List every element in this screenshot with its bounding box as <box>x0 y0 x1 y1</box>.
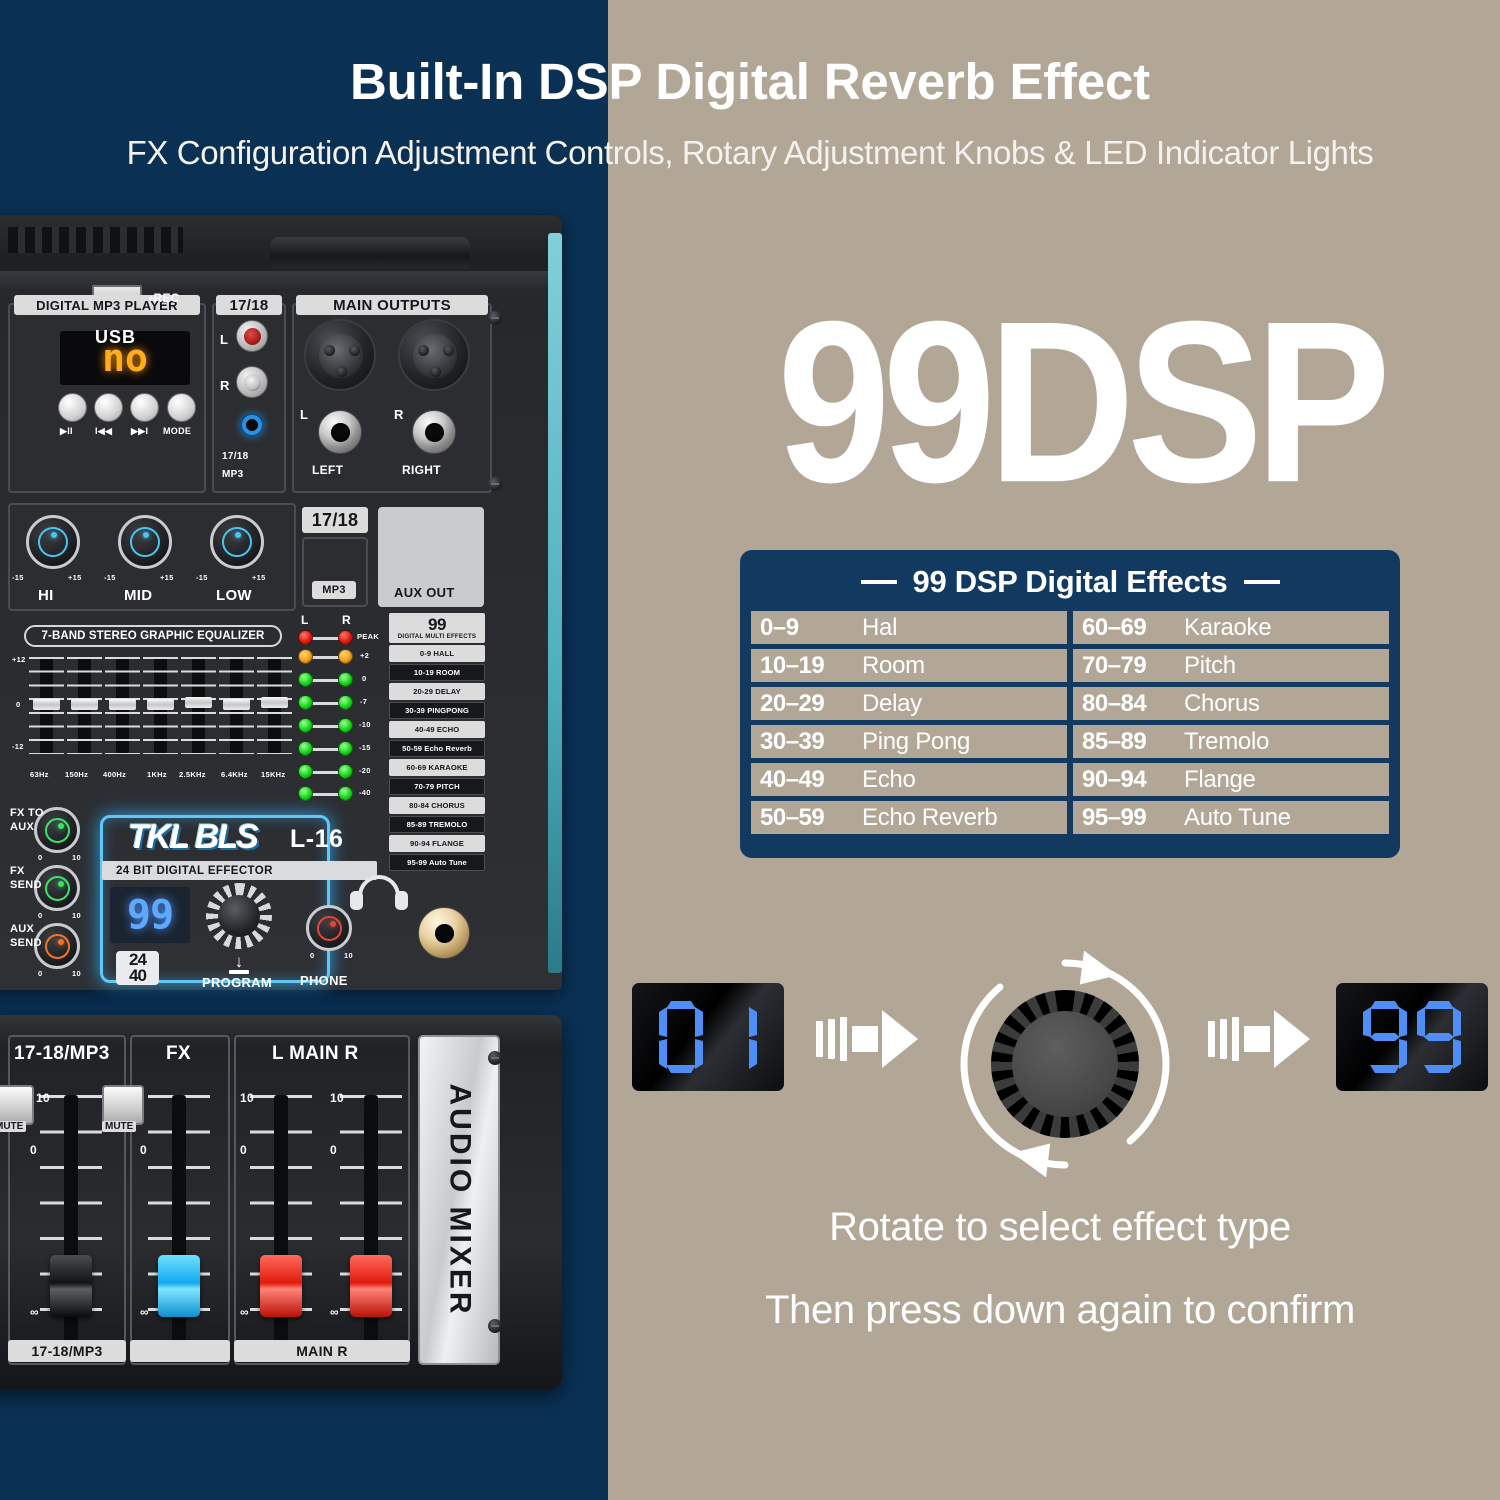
mute-button-ch16[interactable] <box>0 1085 34 1125</box>
effect-range: 20–29 <box>760 690 852 718</box>
meter-led-left <box>298 786 313 801</box>
meter-scale-label: PEAK <box>357 632 379 641</box>
header: Built-In DSP Digital Reverb Effect FX Co… <box>0 0 1500 205</box>
rca-section-label: 17/18 <box>216 295 282 315</box>
fader-scale-10: 10 <box>240 1091 254 1105</box>
meter-scale-label: -10 <box>359 720 371 729</box>
low-knob-label: LOW <box>216 587 252 604</box>
hi-knob[interactable] <box>26 515 80 569</box>
fader-scale-0: 0 <box>330 1143 337 1157</box>
fader-scale-10: 10 <box>330 1091 344 1105</box>
program-label: PROGRAM <box>202 975 272 990</box>
effect-name: Echo <box>862 766 916 794</box>
meter-led-left <box>298 764 313 779</box>
fx-to-aux-label-2: AUX <box>10 821 34 833</box>
screw-icon <box>488 1051 502 1065</box>
effect-row: 70–79 Pitch <box>1073 649 1389 682</box>
eq-scale-zero: 0 <box>16 700 20 709</box>
effect-row: 0–9 Hal <box>751 611 1067 644</box>
dsp-legend-row: 85-89 TREMOLO <box>389 816 485 833</box>
effect-range: 10–19 <box>760 652 852 680</box>
dsp-legend-row: 95-99 Auto Tune <box>389 854 485 871</box>
effect-row: 90–94 Flange <box>1073 763 1389 796</box>
effects-table-card: 99 DSP Digital Effects 0–9 Hal 60–69 Kar… <box>740 550 1400 858</box>
effect-range: 80–84 <box>1082 690 1174 718</box>
meter-led-left <box>298 718 313 733</box>
trs-right-jack[interactable] <box>412 410 456 454</box>
phone-jack[interactable] <box>418 907 470 959</box>
meter-led-left <box>298 672 313 687</box>
dsp-legend-row: 30-39 PINGPONG <box>389 702 485 719</box>
meter-led-right <box>338 695 353 710</box>
fx-to-aux-max: 10 <box>72 853 81 862</box>
eq-band-slider[interactable] <box>40 657 53 754</box>
fader-scale-inf: ∞ <box>140 1305 149 1319</box>
phone-label: PHONE <box>300 973 348 988</box>
next-button[interactable] <box>130 393 159 422</box>
effect-name: Pitch <box>1184 652 1236 680</box>
eq-band-label: 400Hz <box>103 770 126 779</box>
dsp-legend-row: 10-19 ROOM <box>389 664 485 681</box>
audio-mixer-text: AUDIO MIXER <box>442 1083 476 1316</box>
hi-knob-label: HI <box>38 587 54 604</box>
effect-range: 50–59 <box>760 804 852 832</box>
eq-band-label: 1KHz <box>147 770 167 779</box>
rca-left-jack[interactable] <box>236 320 268 352</box>
fader-label-mp3: 17-18/MP3 <box>14 1043 110 1065</box>
flow-caption-line1: Rotate to select effect type <box>620 1205 1500 1250</box>
aux-out-label: AUX OUT <box>394 585 455 600</box>
fader-scale-inf: ∞ <box>30 1305 39 1319</box>
eq-band-label: 15KHz <box>261 770 285 779</box>
effect-name: Delay <box>862 690 922 718</box>
fader-bottom-label-main: MAIN R <box>234 1340 410 1362</box>
effect-row: 85–89 Tremolo <box>1073 725 1389 758</box>
eq-band-slider[interactable] <box>154 657 167 754</box>
meter-led-left <box>298 695 313 710</box>
audio-mixer-plate: AUDIO MIXER <box>418 1035 500 1365</box>
main-right-tag: R <box>394 407 404 422</box>
effect-range: 30–39 <box>760 728 852 756</box>
seven-segment-digit <box>1363 1001 1407 1073</box>
dsp-legend-row: 60-69 KARAOKE <box>389 759 485 776</box>
mute-label: MUTE <box>102 1121 136 1132</box>
knob-face <box>1012 1011 1118 1117</box>
page-title: Built-In DSP Digital Reverb Effect <box>0 52 1500 111</box>
bitrate-badge-bottom: 40 <box>129 966 146 985</box>
effect-name: Chorus <box>1184 690 1260 718</box>
effect-row: 80–84 Chorus <box>1073 687 1389 720</box>
dsp-legend: 99 DIGITAL MULTI EFFECTS 0-9 HALL 10-19 … <box>389 613 485 871</box>
effect-row: 95–99 Auto Tune <box>1073 801 1389 834</box>
eq-band-label: 63Hz <box>30 770 49 779</box>
mixer-teal-edge <box>548 233 562 973</box>
mode-label: MODE <box>163 426 191 436</box>
dsp-legend-row: 80-84 CHORUS <box>389 797 485 814</box>
fx-to-aux-min: 0 <box>38 853 42 862</box>
fader-scale-10: 10 <box>36 1091 50 1105</box>
hi-min-label: -15 <box>12 573 24 582</box>
phone-knob[interactable] <box>306 905 352 951</box>
aux-send-max: 10 <box>72 969 81 978</box>
low-min-label: -15 <box>196 573 208 582</box>
fader-cap <box>350 1255 392 1317</box>
eq-band-slider[interactable] <box>230 657 243 754</box>
fader-scale-0: 0 <box>30 1143 37 1157</box>
fx-send-label-2: SEND <box>10 879 42 891</box>
meter-led-left <box>298 649 313 664</box>
rca-left-label: L <box>220 332 228 347</box>
usb-label: USB <box>95 327 136 348</box>
fader-fx[interactable] <box>172 1095 186 1341</box>
flow-caption-line2: Then press down again to confirm <box>620 1288 1500 1333</box>
meter-right-label: R <box>342 613 351 627</box>
effect-range: 95–99 <box>1082 804 1174 832</box>
press-down-arrow-icon: ↓ <box>228 955 250 977</box>
mid-min-label: -15 <box>104 573 116 582</box>
dsp-wordmark: 99DSP <box>692 288 1467 518</box>
dsp-badge-sub: DIGITAL MULTI EFFECTS <box>398 633 476 640</box>
effect-range: 90–94 <box>1082 766 1174 794</box>
title-dash-left-icon <box>861 580 897 584</box>
meter-led-left <box>298 630 313 645</box>
effect-row: 40–49 Echo <box>751 763 1067 796</box>
meter-led-right <box>338 649 353 664</box>
dsp-badge-number: 99 <box>428 617 446 633</box>
mixer-brand-bar <box>0 271 560 289</box>
mute-label: MUTE <box>0 1121 26 1132</box>
effect-name: Auto Tune <box>1184 804 1291 832</box>
fader-scale-0: 0 <box>240 1143 247 1157</box>
effect-name: Tremolo <box>1184 728 1269 756</box>
dsp-legend-row: 70-79 PITCH <box>389 778 485 795</box>
mixer-photo: DIGITAL MP3 PLAYER USB •REC no ▶II I◀◀ ▶… <box>0 215 600 1390</box>
effect-range: 85–89 <box>1082 728 1174 756</box>
effect-row: 10–19 Room <box>751 649 1067 682</box>
eq-band-label: 150Hz <box>65 770 88 779</box>
eq-band-label: 2.5KHz <box>179 770 206 779</box>
rca-right-label: R <box>220 378 230 393</box>
fader-label-fx: FX <box>166 1043 191 1065</box>
effector-display: 99 <box>110 887 190 943</box>
effect-name: Echo Reverb <box>862 804 997 832</box>
effect-range: 60–69 <box>1082 614 1174 642</box>
dsp-legend-row: 90-94 FLANGE <box>389 835 485 852</box>
hi-max-label: +15 <box>68 573 82 582</box>
meter-scale-label: -40 <box>359 788 371 797</box>
dsp-legend-row: 50-59 Echo Reverb <box>389 740 485 757</box>
effect-row: 20–29 Delay <box>751 687 1067 720</box>
flow-arrow-icon <box>1208 1010 1338 1068</box>
effect-range: 40–49 <box>760 766 852 794</box>
mute-button-mp3[interactable] <box>102 1085 144 1125</box>
bitrate-badge: 24 40 <box>116 951 159 985</box>
meter-led-right <box>338 718 353 733</box>
main-left-tag: L <box>300 407 308 422</box>
effect-range: 70–79 <box>1082 652 1174 680</box>
mode-button[interactable] <box>167 393 196 422</box>
dsp-legend-row: 20-29 DELAY <box>389 683 485 700</box>
screw-icon <box>488 1319 502 1333</box>
previous-button[interactable] <box>94 393 123 422</box>
trs-left-jack[interactable] <box>318 410 362 454</box>
meter-scale-label: 0 <box>362 674 366 683</box>
effect-row: 50–59 Echo Reverb <box>751 801 1067 834</box>
effect-name: Hal <box>862 614 897 642</box>
headphone-icon <box>350 875 408 915</box>
previous-label: I◀◀ <box>95 426 112 437</box>
effect-row: 60–69 Karaoke <box>1073 611 1389 644</box>
aux-send-min: 0 <box>38 969 42 978</box>
rotate-flow-diagram <box>620 955 1500 1165</box>
aux-send-label-2: SEND <box>10 937 42 949</box>
title-dash-right-icon <box>1244 580 1280 584</box>
play-pause-label: ▶II <box>60 426 73 437</box>
mp3-icon-label: MP3 <box>312 581 356 599</box>
dsp-legend-row: 0-9 HALL <box>389 645 485 662</box>
effect-name: Ping Pong <box>862 728 970 756</box>
effector-strip-label: 24 BIT DIGITAL EFFECTOR <box>102 861 377 880</box>
xlr-right-connector[interactable] <box>398 319 470 391</box>
mixer-handle <box>270 237 470 269</box>
dsp-legend-badge: 99 DIGITAL MULTI EFFECTS <box>389 613 485 643</box>
effect-range: 0–9 <box>760 614 852 642</box>
meter-led-right <box>338 786 353 801</box>
rca-right-jack[interactable] <box>236 366 268 398</box>
fx-send-min: 0 <box>38 911 42 920</box>
meter-led-right <box>338 764 353 779</box>
eq-band-slider[interactable] <box>116 657 129 754</box>
meter-scale-label: -15 <box>359 743 371 752</box>
display-start <box>632 983 784 1091</box>
model-number: L-16 <box>290 825 343 854</box>
seven-segment-digit <box>713 1001 757 1073</box>
effect-name: Karaoke <box>1184 614 1271 642</box>
source-led-icon <box>240 413 264 437</box>
display-end <box>1336 983 1488 1091</box>
meter-led-right <box>338 672 353 687</box>
xlr-left-connector[interactable] <box>304 319 376 391</box>
low-max-label: +15 <box>252 573 266 582</box>
mid-knob-label: MID <box>124 587 152 604</box>
screw-icon <box>488 477 502 491</box>
effects-table-title: 99 DSP Digital Effects <box>743 553 1397 611</box>
main-outputs-label: MAIN OUTPUTS <box>296 295 488 315</box>
meter-scale-label: +2 <box>360 651 369 660</box>
mixer-vents <box>8 227 183 253</box>
effects-table-title-text: 99 DSP Digital Effects <box>913 564 1228 600</box>
fader-cap <box>260 1255 302 1317</box>
meter-scale-label: -20 <box>359 766 371 775</box>
meter-left-label: L <box>301 613 309 627</box>
fader-label-main: L MAIN R <box>272 1043 359 1065</box>
fx-send-max: 10 <box>72 911 81 920</box>
rotary-knob-illustration[interactable] <box>950 949 1180 1179</box>
effects-grid: 0–9 Hal 60–69 Karaoke 10–19 Room 70–79 P… <box>743 611 1397 842</box>
right-jack-label: RIGHT <box>402 463 441 477</box>
source-label-2: MP3 <box>222 469 243 480</box>
fader-cap <box>50 1255 92 1317</box>
fader-scale-inf: ∞ <box>330 1305 339 1319</box>
effect-name: Room <box>862 652 925 680</box>
fader-main-right[interactable] <box>364 1095 378 1341</box>
fader-scale-inf: ∞ <box>240 1305 249 1319</box>
screw-icon <box>488 311 502 325</box>
flow-arrow-icon <box>816 1010 946 1068</box>
effector-display-value: 99 <box>127 895 173 935</box>
low-knob[interactable] <box>210 515 264 569</box>
graphic-eq-title: 7-BAND STEREO GRAPHIC EQUALIZER <box>24 625 282 647</box>
play-pause-button[interactable] <box>58 393 87 422</box>
channel-number-tag: 17/18 <box>302 507 368 533</box>
fader-cap <box>158 1255 200 1317</box>
next-label: ▶▶I <box>131 426 148 437</box>
aux-send-label-1: AUX <box>10 923 34 935</box>
fader-bottom-label-mp3: 17-18/MP3 <box>8 1340 126 1362</box>
meter-led-left <box>298 741 313 756</box>
rec-label: •REC <box>149 291 180 305</box>
dsp-legend-row: 40-49 ECHO <box>389 721 485 738</box>
phone-min: 0 <box>310 951 314 960</box>
fx-send-label-1: FX <box>10 865 25 877</box>
fader-scale-0: 0 <box>140 1143 147 1157</box>
seven-segment-digit <box>659 1001 703 1073</box>
meter-led-right <box>338 630 353 645</box>
mid-max-label: +15 <box>160 573 174 582</box>
meter-led-right <box>338 741 353 756</box>
eq-band-slider[interactable] <box>78 657 91 754</box>
eq-band-slider[interactable] <box>192 657 205 754</box>
eq-scale-minus12: -12 <box>12 742 24 751</box>
mid-knob[interactable] <box>118 515 172 569</box>
seven-segment-digit <box>1417 1001 1461 1073</box>
page-subtitle: FX Configuration Adjustment Controls, Ro… <box>0 134 1500 172</box>
fx-to-aux-label-1: FX TO <box>10 807 44 819</box>
source-label-1: 17/18 <box>222 451 249 462</box>
fader-main-left[interactable] <box>274 1095 288 1341</box>
fader-mp3[interactable] <box>64 1095 78 1341</box>
eq-band-slider[interactable] <box>268 657 281 754</box>
effect-name: Flange <box>1184 766 1256 794</box>
phone-max: 10 <box>344 951 353 960</box>
effect-row: 30–39 Ping Pong <box>751 725 1067 758</box>
brand-logo: TKL BLS <box>128 818 257 857</box>
meter-scale-label: -7 <box>360 697 367 706</box>
fader-bottom-label-fx <box>130 1340 230 1362</box>
program-knob[interactable] <box>206 883 272 949</box>
eq-scale-plus12: +12 <box>12 655 26 664</box>
left-jack-label: LEFT <box>312 463 343 477</box>
eq-band-label: 6.4KHz <box>221 770 248 779</box>
